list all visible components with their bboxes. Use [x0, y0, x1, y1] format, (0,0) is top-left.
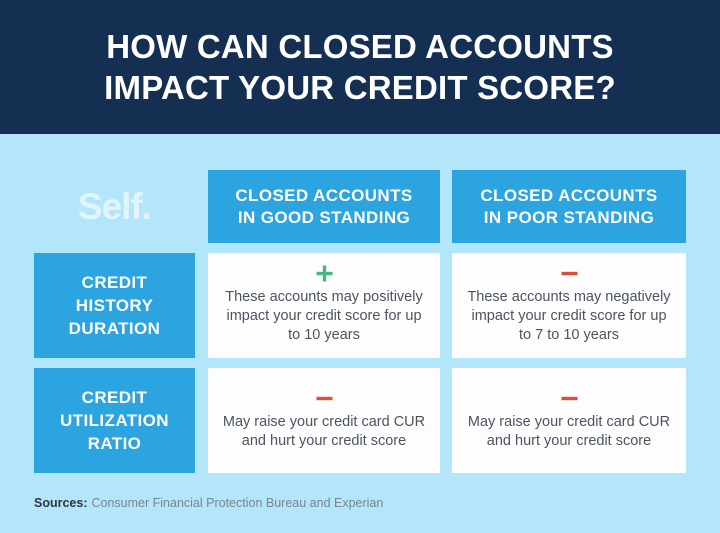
row-label-line-3: DURATION	[69, 317, 161, 340]
minus-icon	[315, 389, 334, 408]
cell-history-poor: These accounts may negatively impact you…	[452, 253, 686, 358]
cell-text: May raise your credit card CUR and hurt …	[222, 413, 426, 451]
minus-icon	[560, 264, 579, 283]
column-header-good-line-2: IN GOOD STANDING	[238, 207, 410, 229]
row-label-credit-history-duration: CREDIT HISTORY DURATION	[34, 253, 195, 358]
table-row: CREDIT HISTORY DURATION These accounts m…	[34, 253, 686, 358]
cell-utilization-poor: May raise your credit card CUR and hurt …	[452, 368, 686, 473]
logo-text: Self.	[78, 188, 151, 225]
comparison-table: Self. CLOSED ACCOUNTS IN GOOD STANDING C…	[34, 170, 686, 481]
minus-icon	[560, 389, 579, 408]
sources-footer: Sources: Consumer Financial Protection B…	[34, 496, 383, 510]
brand-logo: Self.	[34, 170, 195, 243]
column-header-poor-line-2: IN POOR STANDING	[484, 207, 654, 229]
row-label-line-1: CREDIT	[82, 386, 148, 409]
cell-text: These accounts may positively impact you…	[222, 288, 426, 345]
row-label-credit-utilization-ratio: CREDIT UTILIZATION RATIO	[34, 368, 195, 473]
row-label-line-1: CREDIT	[82, 271, 148, 294]
headline-line-2: IMPACT YOUR CREDIT SCORE?	[104, 67, 616, 108]
headline-line-1: HOW CAN CLOSED ACCOUNTS	[106, 26, 614, 67]
table-header-row: Self. CLOSED ACCOUNTS IN GOOD STANDING C…	[34, 170, 686, 243]
cell-text: These accounts may negatively impact you…	[466, 288, 672, 345]
sources-text: Consumer Financial Protection Bureau and…	[92, 496, 384, 510]
plus-icon	[315, 264, 334, 283]
row-label-line-3: RATIO	[88, 432, 142, 455]
cell-history-good: These accounts may positively impact you…	[208, 253, 440, 358]
row-label-line-2: UTILIZATION	[60, 409, 169, 432]
cell-utilization-good: May raise your credit card CUR and hurt …	[208, 368, 440, 473]
column-header-poor-standing: CLOSED ACCOUNTS IN POOR STANDING	[452, 170, 686, 243]
column-header-good-line-1: CLOSED ACCOUNTS	[235, 185, 412, 207]
sources-label: Sources:	[34, 496, 88, 510]
header-band: HOW CAN CLOSED ACCOUNTS IMPACT YOUR CRED…	[0, 0, 720, 134]
table-row: CREDIT UTILIZATION RATIO May raise your …	[34, 368, 686, 473]
column-header-good-standing: CLOSED ACCOUNTS IN GOOD STANDING	[208, 170, 440, 243]
column-header-poor-line-1: CLOSED ACCOUNTS	[480, 185, 657, 207]
row-label-line-2: HISTORY	[76, 294, 153, 317]
infographic-root: HOW CAN CLOSED ACCOUNTS IMPACT YOUR CRED…	[0, 0, 720, 533]
cell-text: May raise your credit card CUR and hurt …	[466, 413, 672, 451]
